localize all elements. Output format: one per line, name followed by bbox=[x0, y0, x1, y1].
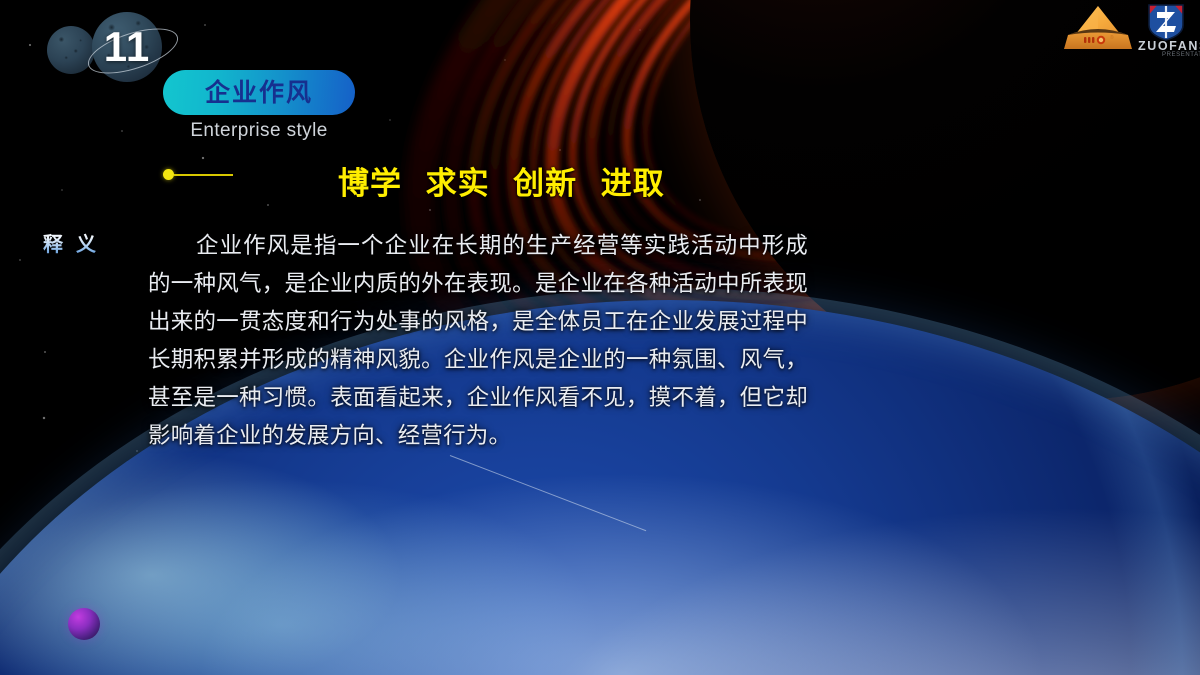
section-title-pill[interactable]: 企业作风 bbox=[163, 70, 355, 115]
pyramid-logo-icon: ® bbox=[1062, 4, 1134, 52]
bullet-line-icon bbox=[174, 174, 233, 176]
explanation-body: 企业作风是指一个企业在长期的生产经营等实践活动中形成的一种风气，是企业内质的外在… bbox=[148, 227, 808, 455]
bullet-dot-icon bbox=[163, 169, 174, 180]
purple-planet-icon bbox=[68, 608, 100, 640]
section-title-cn: 企业作风 bbox=[205, 80, 313, 105]
presentation-slide: 11 企业作风 Enterprise style 博学 求实 创新 进取 释 义… bbox=[0, 0, 1200, 675]
brand-wordmark: ZUOFANS bbox=[1138, 39, 1200, 53]
section-title-en: Enterprise style bbox=[163, 120, 355, 142]
brand-wordmark-sub: PRESENTATION bbox=[1162, 52, 1200, 58]
section-number: 11 bbox=[92, 12, 162, 82]
svg-text:®: ® bbox=[1110, 34, 1114, 41]
explanation-label: 释 义 bbox=[43, 228, 99, 257]
slogan-headline: 博学 求实 创新 进取 bbox=[338, 158, 665, 203]
shield-z-logo-icon bbox=[1146, 2, 1186, 42]
